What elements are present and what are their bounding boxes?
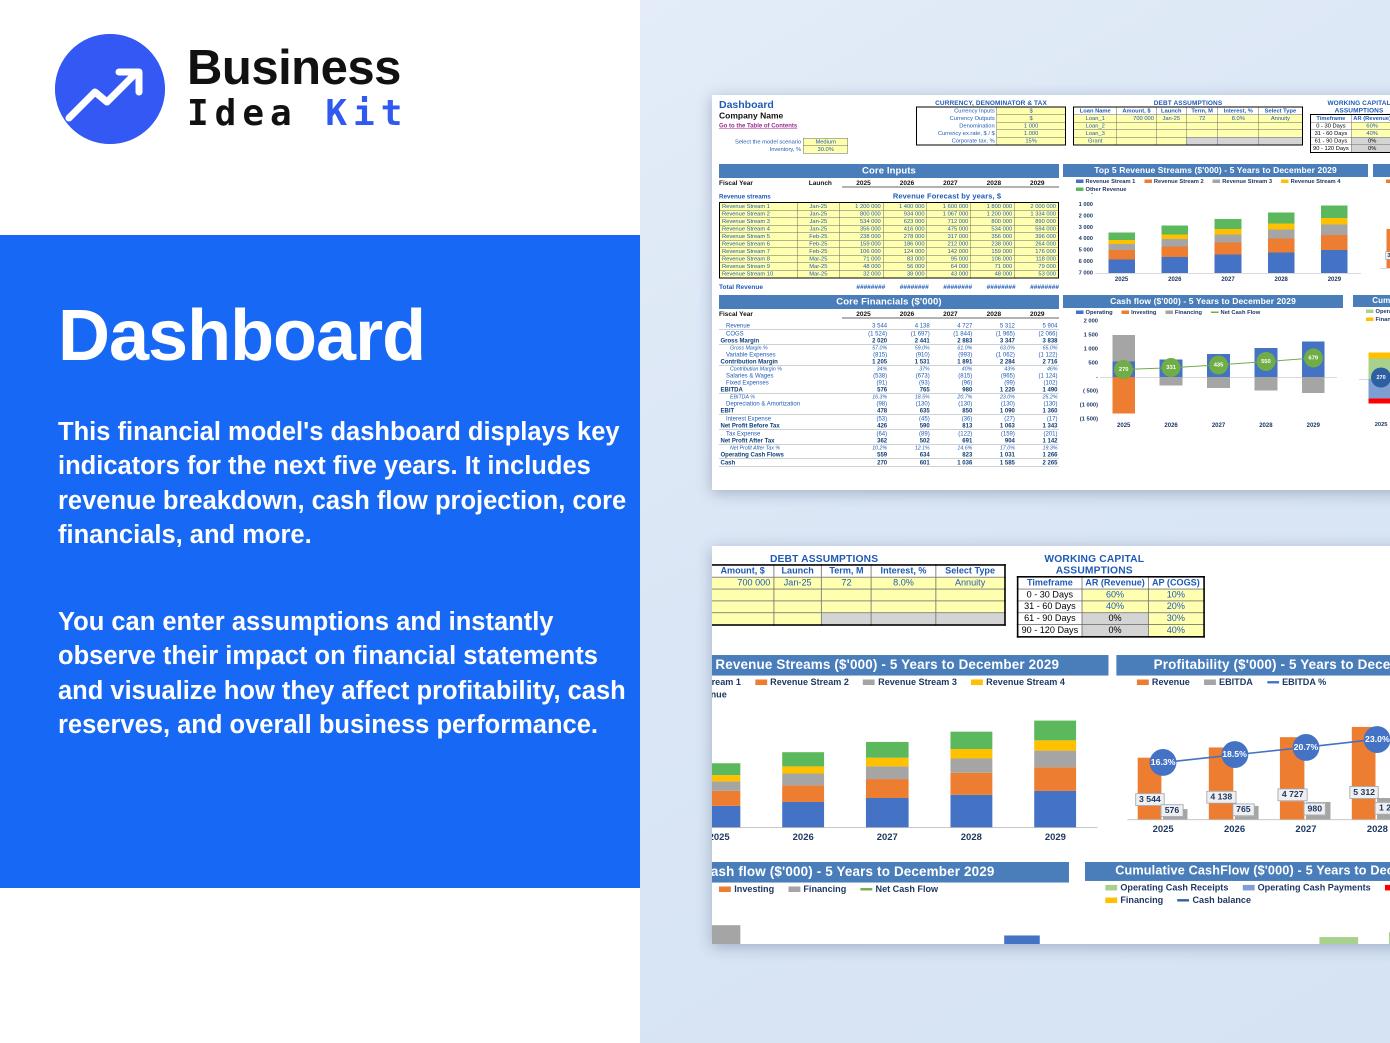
financial-label: Gross Margin	[719, 337, 846, 344]
debt-cell[interactable]	[1117, 122, 1156, 130]
legend-swatch-cash-balance	[1177, 900, 1189, 902]
bar-revenue-stream-4	[866, 758, 908, 767]
wc-cell[interactable]: 40%	[1148, 625, 1203, 637]
revenue-value[interactable]: 534 000	[839, 218, 883, 226]
wc-cell[interactable]: 0%	[1351, 137, 1390, 145]
bar-revenue-stream-1	[1215, 255, 1242, 273]
bar-revenue-stream-4	[1108, 240, 1135, 244]
chart-title-revenue-streams: Top 5 Revenue Streams ($'000) - 5 Years …	[712, 655, 1108, 676]
revenue-value[interactable]: 79 000	[1014, 263, 1058, 271]
revenue-value[interactable]: 356 000	[839, 225, 883, 233]
financial-label: Contribution Margin	[719, 358, 846, 365]
financial-value: 1 036	[931, 459, 974, 466]
x-tick-label: 2026	[1199, 823, 1270, 834]
debt-cell[interactable]: Jan-25	[774, 577, 822, 589]
debt-cell[interactable]: 72	[822, 577, 872, 589]
currency-value[interactable]: 1 000	[997, 122, 1066, 130]
wc-cell[interactable]: 0%	[1351, 145, 1390, 153]
y-tick-label: ( 500)	[1063, 388, 1098, 394]
legend-swatch-financing	[788, 887, 800, 893]
revenue-row: Revenue Stream 7Feb-25106 000124 000142 …	[720, 248, 1059, 256]
x-tick-label: 2027	[1195, 422, 1242, 429]
bar-revenue-stream-2	[1034, 767, 1076, 791]
revenue-value[interactable]: 142 000	[927, 248, 971, 256]
dashboard-screenshot-top[interactable]: DashboardCompany NameGo to the Table of …	[712, 95, 1390, 490]
revenue-value[interactable]: 159 000	[839, 240, 883, 248]
debt-cell[interactable]	[822, 601, 872, 613]
debt-cell[interactable]	[822, 613, 872, 625]
revenue-value[interactable]: 106 000	[971, 255, 1015, 263]
debt-cell[interactable]	[774, 589, 822, 601]
debt-cell[interactable]	[1117, 130, 1156, 138]
revenue-value[interactable]: 1 400 000	[883, 203, 927, 211]
total-revenue-label: Total Revenue	[719, 283, 842, 291]
bar-revenue-stream-4	[1268, 223, 1295, 229]
wc-row: 31 - 60 Days40%20%	[1311, 130, 1390, 138]
bar-revenue-stream-4	[712, 775, 740, 781]
total-revenue-value: ########	[1016, 283, 1059, 291]
financial-label: Depreciation & Amortization	[719, 400, 846, 407]
legend-label: Operating	[1086, 310, 1113, 316]
revenue-row: Revenue Stream 1Jan-251 200 0001 400 000…	[720, 203, 1059, 211]
revenue-value[interactable]: 176 000	[1014, 248, 1058, 256]
bar-revenue-stream-1	[1034, 791, 1076, 827]
financial-value: 426	[846, 422, 889, 429]
revenue-value[interactable]: 1 200 000	[839, 203, 883, 211]
y-tick-label: 2 000	[1063, 318, 1098, 324]
financial-value: 2 441	[889, 337, 932, 344]
financial-value: 1 031	[974, 451, 1017, 458]
total-revenue-value: ########	[929, 283, 972, 291]
total-revenue-value: ########	[885, 283, 928, 291]
revenue-launch[interactable]: Jan-25	[798, 203, 840, 211]
financial-value: 765	[889, 386, 932, 393]
debt-cell[interactable]: Annuity	[936, 577, 1005, 589]
financial-label: COGS	[719, 330, 846, 337]
debt-cell[interactable]: Loan_3	[1074, 130, 1117, 138]
x-tick-label: 2028	[1342, 823, 1390, 834]
revenue-value[interactable]: 264 000	[1014, 240, 1058, 248]
revenue-value[interactable]: 238 000	[971, 240, 1015, 248]
wc-cell[interactable]: 0%	[1082, 625, 1149, 637]
financial-value: (53)	[846, 415, 889, 422]
financial-row: Tax Expense(64)(89)(122)(159)(201)	[719, 430, 1059, 437]
bar-revenue-stream-2	[1215, 243, 1242, 255]
legend-swatch-revenue-stream-4	[971, 680, 983, 686]
financial-value: 3 347	[974, 337, 1017, 344]
legend-label: Financing	[803, 885, 846, 894]
revenue-stream-name[interactable]: Revenue Stream 6	[720, 240, 798, 248]
revenue-value[interactable]: 712 000	[927, 218, 971, 226]
financial-row: Operating Cash Flows5596348231 0311 266	[719, 451, 1059, 458]
currency-value[interactable]: $	[997, 107, 1066, 115]
financial-value: 813	[931, 422, 974, 429]
revenue-value[interactable]: 278 000	[883, 233, 927, 241]
wc-table: TimeframeAR (Revenue)AP (COGS)0 - 30 Day…	[1310, 114, 1390, 153]
line-data-bubble: 20.7%	[1293, 734, 1320, 761]
revenue-stream-name[interactable]: Revenue Stream 2	[720, 210, 798, 218]
revenue-value[interactable]: 396 000	[1014, 233, 1058, 241]
revenue-value[interactable]: 238 000	[839, 233, 883, 241]
revenue-row: Revenue Stream 3Jan-25534 000623 000712 …	[720, 218, 1059, 226]
financial-label: Net Profit After Tax	[719, 437, 846, 444]
debt-cell[interactable]	[1259, 122, 1303, 130]
currency-row: Currency ex.rate, $ / $1.000	[917, 130, 1066, 138]
debt-cell[interactable]: 8.0%	[1218, 115, 1259, 123]
plot-area-cash-flow: 270331435550679	[712, 903, 1060, 944]
chart-legend-revenue-streams: Revenue Stream 1Revenue Stream 2Revenue …	[712, 676, 1108, 702]
revenue-value[interactable]: 32 000	[839, 270, 883, 278]
revenue-stream-name[interactable]: Revenue Stream 10	[720, 270, 798, 278]
wc-cell: 61 - 90 Days	[1311, 137, 1352, 145]
chart-cumulative-cashflow: Cumulative CashFlow ($'000) - 5 Years to…	[1085, 862, 1390, 944]
financial-label: Cash	[719, 459, 846, 466]
currency-value[interactable]: $	[997, 115, 1066, 123]
wc-caption: WORKING CAPITAL ASSUMPTIONS	[1310, 99, 1390, 114]
revenue-launch[interactable]: Mar-25	[798, 270, 840, 278]
debt-cell[interactable]	[712, 601, 774, 613]
debt-cell[interactable]: 700 000	[712, 577, 774, 589]
debt-cell[interactable]: Loan_2	[1074, 122, 1117, 130]
debt-cell[interactable]	[936, 601, 1005, 613]
sheet-root: DashboardCompany NameGo to the Table of …	[712, 546, 1178, 944]
revenue-stream-name[interactable]: Revenue Stream 1	[720, 203, 798, 211]
legend-swatch-revenue-stream-4	[1281, 180, 1289, 184]
x-tick-label: 2025	[1380, 271, 1390, 278]
revenue-value[interactable]: 890 000	[1014, 218, 1058, 226]
debt-cell[interactable]: Jan-25	[1156, 115, 1186, 123]
plot-area-cumulative-cashflow: 2706011 0361 5852 265	[1359, 326, 1390, 419]
financial-value: 2 883	[931, 337, 974, 344]
debt-cell[interactable]	[1156, 130, 1186, 138]
revenue-launch[interactable]: Jan-25	[798, 210, 840, 218]
debt-cell[interactable]	[871, 613, 935, 625]
line-data-bubble: 23.0%	[1364, 726, 1390, 753]
debt-cell[interactable]	[1117, 137, 1156, 145]
line-series-ebitda-	[1380, 193, 1390, 268]
line-data-bubble: 16.3%	[1150, 749, 1177, 776]
revenue-row: Revenue Stream 5Feb-25238 000278 000317 …	[720, 233, 1059, 241]
revenue-value[interactable]: 48 000	[839, 263, 883, 271]
legend-item: Operating	[1076, 310, 1113, 316]
debt-cell[interactable]: 72	[1186, 115, 1218, 123]
revenue-stream-name[interactable]: Revenue Stream 7	[720, 248, 798, 256]
debt-header-cell: Term, M	[1186, 107, 1218, 115]
brand-logo: Business Idea Kit	[55, 34, 408, 144]
revenue-launch[interactable]: Feb-25	[798, 248, 840, 256]
y-tick-label: 500	[1063, 360, 1098, 366]
debt-cell[interactable]	[1218, 122, 1259, 130]
revenue-value[interactable]: 1 067 000	[927, 210, 971, 218]
wc-cell[interactable]: 10%	[1148, 589, 1203, 601]
legend-swatch-operating-cash-receipts	[1105, 885, 1117, 891]
debt-cell[interactable]	[1156, 122, 1186, 130]
legend-swatch-revenue	[1386, 180, 1390, 184]
debt-header-row: Loan NameAmount, $LaunchTerm, MInterest,…	[1074, 107, 1303, 115]
wc-cell[interactable]: 40%	[1351, 130, 1390, 138]
legend-label: Revenue	[1152, 678, 1190, 687]
debt-cell[interactable]	[1186, 130, 1218, 138]
revenue-stream-name[interactable]: Revenue Stream 8	[720, 255, 798, 263]
revenue-launch[interactable]: Feb-25	[798, 240, 840, 248]
legend-label: Financing	[1376, 317, 1390, 323]
x-tick-label: 2025	[1095, 276, 1148, 283]
financial-value: (673)	[889, 372, 932, 379]
chart-legend-cash-flow: OperatingInvestingFinancingNet Cash Flow	[712, 883, 1069, 896]
debt-cell[interactable]	[936, 613, 1005, 625]
debt-cell[interactable]	[712, 613, 774, 625]
currency-row: Denomination1 000	[917, 122, 1066, 130]
core-financials-header: Fiscal Year20252026202720282029	[719, 310, 1059, 319]
financial-value: (1 122)	[1016, 351, 1059, 358]
chart-cash-flow: Cash flow ($'000) - 5 Years to December …	[1063, 295, 1343, 445]
y-tick-label: (1 000)	[1063, 402, 1098, 408]
revenue-value[interactable]: 212 000	[927, 240, 971, 248]
wc-header-row: TimeframeAR (Revenue)AP (COGS)	[1018, 577, 1204, 589]
legend-swatch-operating-cash-receipts	[1366, 310, 1374, 314]
debt-cell[interactable]	[774, 601, 822, 613]
revenue-value[interactable]: 416 000	[883, 225, 927, 233]
wc-header-row: TimeframeAR (Revenue)AP (COGS)	[1311, 115, 1390, 123]
revenue-value[interactable]: 356 000	[971, 233, 1015, 241]
bar-revenue-stream-2	[712, 791, 740, 805]
revenue-value[interactable]: 159 000	[971, 248, 1015, 256]
revenue-row: Revenue Stream 6Feb-25159 000186 000212 …	[720, 240, 1059, 248]
revenue-stream-name[interactable]: Revenue Stream 4	[720, 225, 798, 233]
bar-other-revenue	[782, 753, 824, 767]
chart-legend-cumulative-cashflow: Operating Cash ReceiptsOperating Cash Pa…	[1085, 881, 1390, 907]
revenue-launch[interactable]: Feb-25	[798, 233, 840, 241]
debt-cell[interactable]	[936, 589, 1005, 601]
revenue-value[interactable]: 934 000	[883, 210, 927, 218]
financial-label: Tax Expense	[719, 430, 846, 437]
debt-cell[interactable]: Annuity	[1259, 115, 1303, 123]
scenario-value-inventory[interactable]: 30.0%	[803, 146, 848, 154]
x-tick-label: 2026	[1147, 422, 1194, 429]
line-data-bubble: 435	[1209, 355, 1228, 374]
bar-revenue-stream-3	[1162, 239, 1189, 246]
y-tick-label: 1 000	[1063, 201, 1093, 207]
financial-value: (64)	[846, 430, 889, 437]
debt-cell[interactable]	[712, 589, 774, 601]
revenue-stream-name[interactable]: Revenue Stream 3	[720, 218, 798, 226]
spreadsheet-content-top: DashboardCompany NameGo to the Table of …	[712, 95, 1390, 490]
legend-swatch-revenue-stream-2	[1144, 180, 1152, 184]
x-tick-label: 2025	[1100, 422, 1147, 429]
revenue-stream-name[interactable]: Revenue Stream 9	[720, 263, 798, 271]
debt-header-cell: Interest, %	[871, 565, 935, 577]
financial-value: (538)	[846, 372, 889, 379]
revenue-value[interactable]: 594 000	[1014, 225, 1058, 233]
currency-block: CURRENCY, DENOMINATOR & TAXCurrency Inpu…	[916, 99, 1066, 146]
financial-label: Operating Cash Flows	[719, 451, 846, 458]
revenue-value[interactable]: 1 800 000	[971, 203, 1015, 211]
legend-item: Net Cash Flow	[1211, 310, 1260, 316]
chart-title-revenue-streams: Top 5 Revenue Streams ($'000) - 5 Years …	[1063, 164, 1368, 177]
debt-block: DEBT ASSUMPTIONSLoan NameAmount, $Launch…	[1073, 99, 1303, 146]
x-tick-label: 2026	[1148, 276, 1201, 283]
wc-cell[interactable]: 0%	[1082, 613, 1149, 625]
y-tick-label: 5 000	[1063, 247, 1093, 253]
wc-cell[interactable]: 60%	[1351, 122, 1390, 130]
wc-caption: WORKING CAPITAL ASSUMPTIONS	[1017, 552, 1172, 576]
wc-row: 31 - 60 Days40%20%	[1018, 601, 1204, 613]
revenue-value[interactable]: 106 000	[839, 248, 883, 256]
currency-value[interactable]: 1.000	[997, 130, 1066, 138]
chart-profitability: Profitability ($'000) - 5 Years to Decem…	[1116, 655, 1390, 853]
cf-fiscal-year-label: Fiscal Year	[719, 310, 842, 319]
revenue-value[interactable]: 43 000	[927, 270, 971, 278]
company-name: Company Name	[719, 111, 797, 121]
plot-area-cumulative-cashflow: 2706011 0361 5852 265	[1094, 911, 1390, 944]
debt-cell[interactable]	[774, 613, 822, 625]
debt-caption: DEBT ASSUMPTIONS	[1073, 99, 1303, 107]
revenue-launch[interactable]: Mar-25	[798, 263, 840, 271]
dashboard-screenshot-bottom[interactable]: DashboardCompany NameGo to the Table of …	[712, 546, 1390, 944]
revenue-value[interactable]: 124 000	[883, 248, 927, 256]
revenue-value[interactable]: 2 000 000	[1014, 203, 1058, 211]
revenue-row: Revenue Stream 2Jan-25800 000934 0001 06…	[720, 210, 1059, 218]
wc-row: 0 - 30 Days60%10%	[1311, 122, 1390, 130]
revenue-value[interactable]: 118 000	[1014, 255, 1058, 263]
financial-value: (130)	[931, 400, 974, 407]
hero-paragraph-1: This financial model's dashboard display…	[58, 415, 650, 553]
revenue-value[interactable]: 53 000	[1014, 270, 1058, 278]
financial-value: (1 524)	[846, 330, 889, 337]
financial-value: 576	[846, 386, 889, 393]
bar-other-revenue	[1321, 206, 1348, 218]
revenue-value[interactable]: 186 000	[883, 240, 927, 248]
debt-cell[interactable]: Grant	[1074, 137, 1117, 145]
bar-revenue-stream-3	[1268, 230, 1295, 239]
legend-swatch-investing	[719, 887, 731, 893]
bar-revenue-stream-4	[1034, 740, 1076, 751]
revenue-launch[interactable]: Jan-25	[798, 218, 840, 226]
legend-swatch-revenue-stream-3	[1213, 180, 1221, 184]
y-tick-label: -	[1063, 190, 1093, 196]
financial-value: 691	[931, 437, 974, 444]
debt-cell[interactable]	[1218, 137, 1259, 145]
hero-paragraph-2: You can enter assumptions and instantly …	[58, 605, 650, 743]
debt-cell[interactable]: 700 000	[1117, 115, 1156, 123]
revenue-value[interactable]: 83 000	[883, 255, 927, 263]
revenue-value[interactable]: 534 000	[971, 225, 1015, 233]
scenario-value-scenario[interactable]: Medium	[803, 138, 848, 146]
debt-cell[interactable]	[1186, 137, 1218, 145]
bar-revenue-stream-2	[1321, 235, 1348, 250]
revenue-value[interactable]: 800 000	[839, 210, 883, 218]
financial-value: 3 544	[846, 322, 889, 329]
launch-label: Launch	[799, 179, 842, 188]
x-tick-label: 2029	[1290, 422, 1337, 429]
wc-header-cell: Timeframe	[1311, 115, 1352, 123]
financial-value: 601	[889, 459, 932, 466]
currency-row: Currency Outputs$	[917, 115, 1066, 123]
revenue-launch[interactable]: Jan-25	[798, 225, 840, 233]
chart-revenue-streams: Top 5 Revenue Streams ($'000) - 5 Years …	[1063, 164, 1368, 289]
legend-item: Revenue Stream 2	[1144, 179, 1203, 185]
revenue-value[interactable]: 1 200 000	[971, 210, 1015, 218]
chart-legend-profitability: RevenueEBITDAEBITDA %	[1373, 177, 1390, 186]
y-tick-label: -	[1063, 374, 1098, 380]
x-tick-label: 2025	[712, 831, 761, 842]
bar-other-revenue	[1268, 212, 1295, 223]
revenue-value[interactable]: 95 000	[927, 255, 971, 263]
bar-other-revenue	[712, 763, 740, 775]
financial-value: (91)	[846, 379, 889, 386]
currency-caption: CURRENCY, DENOMINATOR & TAX	[916, 99, 1066, 107]
debt-cell[interactable]	[1218, 130, 1259, 138]
debt-cell[interactable]	[1259, 130, 1303, 138]
revenue-launch[interactable]: Mar-25	[798, 255, 840, 263]
revenue-stream-name[interactable]: Revenue Stream 5	[720, 233, 798, 241]
wc-row: 61 - 90 Days0%30%	[1311, 137, 1390, 145]
revenue-value[interactable]: 800 000	[971, 218, 1015, 226]
wc-cell[interactable]: 20%	[1148, 601, 1203, 613]
revenue-value[interactable]: 1 600 000	[927, 203, 971, 211]
bar-other-revenue	[1215, 219, 1242, 229]
legend-item: Revenue	[1137, 678, 1190, 687]
debt-cell[interactable]	[871, 601, 935, 613]
currency-value[interactable]: 15%	[997, 137, 1066, 145]
core-financials-table: Revenue3 5444 1384 7275 3125 904COGS(1 5…	[719, 322, 1059, 467]
legend-swatch-net-cash-flow	[1211, 312, 1219, 314]
financial-row: Variable Expenses(815)(910)(993)(1 062)(…	[719, 351, 1059, 358]
revenue-value[interactable]: 317 000	[927, 233, 971, 241]
scenario-row: Inventory, %30.0%	[733, 146, 848, 154]
legend-item: Investing	[1385, 883, 1390, 892]
revenue-value[interactable]: 623 000	[883, 218, 927, 226]
legend-item: Revenue Stream 1	[1076, 179, 1135, 185]
financial-value: (1 062)	[974, 351, 1017, 358]
debt-cell[interactable]	[1259, 137, 1303, 145]
debt-cell[interactable]	[871, 589, 935, 601]
debt-cell[interactable]: 8.0%	[871, 577, 935, 589]
table-of-contents-link[interactable]: Go to the Table of Contents	[719, 122, 797, 129]
debt-cell[interactable]	[1156, 137, 1186, 145]
legend-item: Operating Cash Payments	[1243, 883, 1371, 892]
wc-cell[interactable]: 30%	[1148, 613, 1203, 625]
bar-revenue-stream-3	[866, 766, 908, 779]
legend-item: Financing	[1366, 317, 1390, 323]
line-data-bubble: 679	[1304, 348, 1323, 367]
wc-header-cell: AR (Revenue)	[1082, 577, 1149, 589]
debt-cell[interactable]	[1186, 122, 1218, 130]
revenue-value[interactable]: 48 000	[971, 270, 1015, 278]
revenue-value[interactable]: 71 000	[971, 263, 1015, 271]
year-header: 2028	[972, 179, 1015, 188]
total-revenue-value: ########	[972, 283, 1015, 291]
bar-revenue-stream-2	[782, 785, 824, 802]
debt-row: Loan_1700 000Jan-25728.0%Annuity	[712, 577, 1005, 589]
financial-label: EBITDA	[719, 386, 846, 393]
revenue-value[interactable]: 1 334 000	[1014, 210, 1058, 218]
x-tick-label: 2026	[761, 831, 845, 842]
revenue-value[interactable]: 475 000	[927, 225, 971, 233]
bar-revenue-stream-2	[950, 773, 992, 795]
revenue-value[interactable]: 38 000	[883, 270, 927, 278]
cf-year-header: 2026	[885, 310, 928, 319]
debt-cell[interactable]	[822, 589, 872, 601]
legend-label: Revenue Stream 1	[712, 678, 741, 687]
wc-cell[interactable]: 40%	[1082, 601, 1149, 613]
wc-cell[interactable]: 60%	[1082, 589, 1149, 601]
revenue-value[interactable]: 71 000	[839, 255, 883, 263]
debt-cell[interactable]: Loan_1	[1074, 115, 1117, 123]
revenue-value[interactable]: 64 000	[927, 263, 971, 271]
financial-label: Net Profit Before Tax	[719, 422, 846, 429]
revenue-value[interactable]: 56 000	[883, 263, 927, 271]
